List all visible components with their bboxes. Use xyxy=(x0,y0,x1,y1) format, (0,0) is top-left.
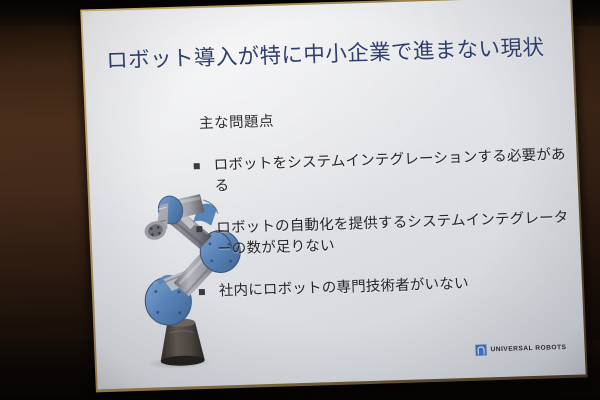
bullet-text: 社内にロボットの専門技術者がいない xyxy=(219,276,469,300)
square-bullet-icon xyxy=(194,163,200,169)
projection-screen: ロボット導入が特に中小企業で進まない現状 主な問題点 ロボットをシステムインテグ… xyxy=(80,0,588,392)
presentation-slide: ロボット導入が特に中小企業で進まない現状 主な問題点 ロボットをシステムインテグ… xyxy=(82,0,585,389)
bullet-item: ロボットをシステムインテグレーションする必要がある xyxy=(192,145,569,198)
square-bullet-icon xyxy=(196,226,202,232)
square-bullet-icon xyxy=(199,289,205,295)
bullet-text: ロボットをシステムインテグレーションする必要がある xyxy=(213,147,566,194)
universal-robots-mark-icon xyxy=(475,344,486,355)
bullet-item: 社内にロボットの専門技術者がいない xyxy=(198,271,574,303)
bullet-list: ロボットをシステムインテグレーションする必要がある ロボットの自動化を提供するシ… xyxy=(192,145,574,325)
slide-title: ロボット導入が特に中小企業で進まない現状 xyxy=(106,35,547,74)
screenshot-stage: ロボット導入が特に中小企業で進まない現状 主な問題点 ロボットをシステムインテグ… xyxy=(0,0,600,400)
universal-robots-wordmark: UNIVERSAL ROBOTS xyxy=(490,344,566,353)
universal-robots-logo: UNIVERSAL ROBOTS xyxy=(475,342,566,356)
bullet-item: ロボットの自動化を提供するシステムインテグレーターの数が足りない xyxy=(195,208,572,261)
bullet-text: ロボットの自動化を提供するシステムインテグレーターの数が足りない xyxy=(216,210,569,257)
slide-subtitle: 主な問題点 xyxy=(199,110,275,133)
